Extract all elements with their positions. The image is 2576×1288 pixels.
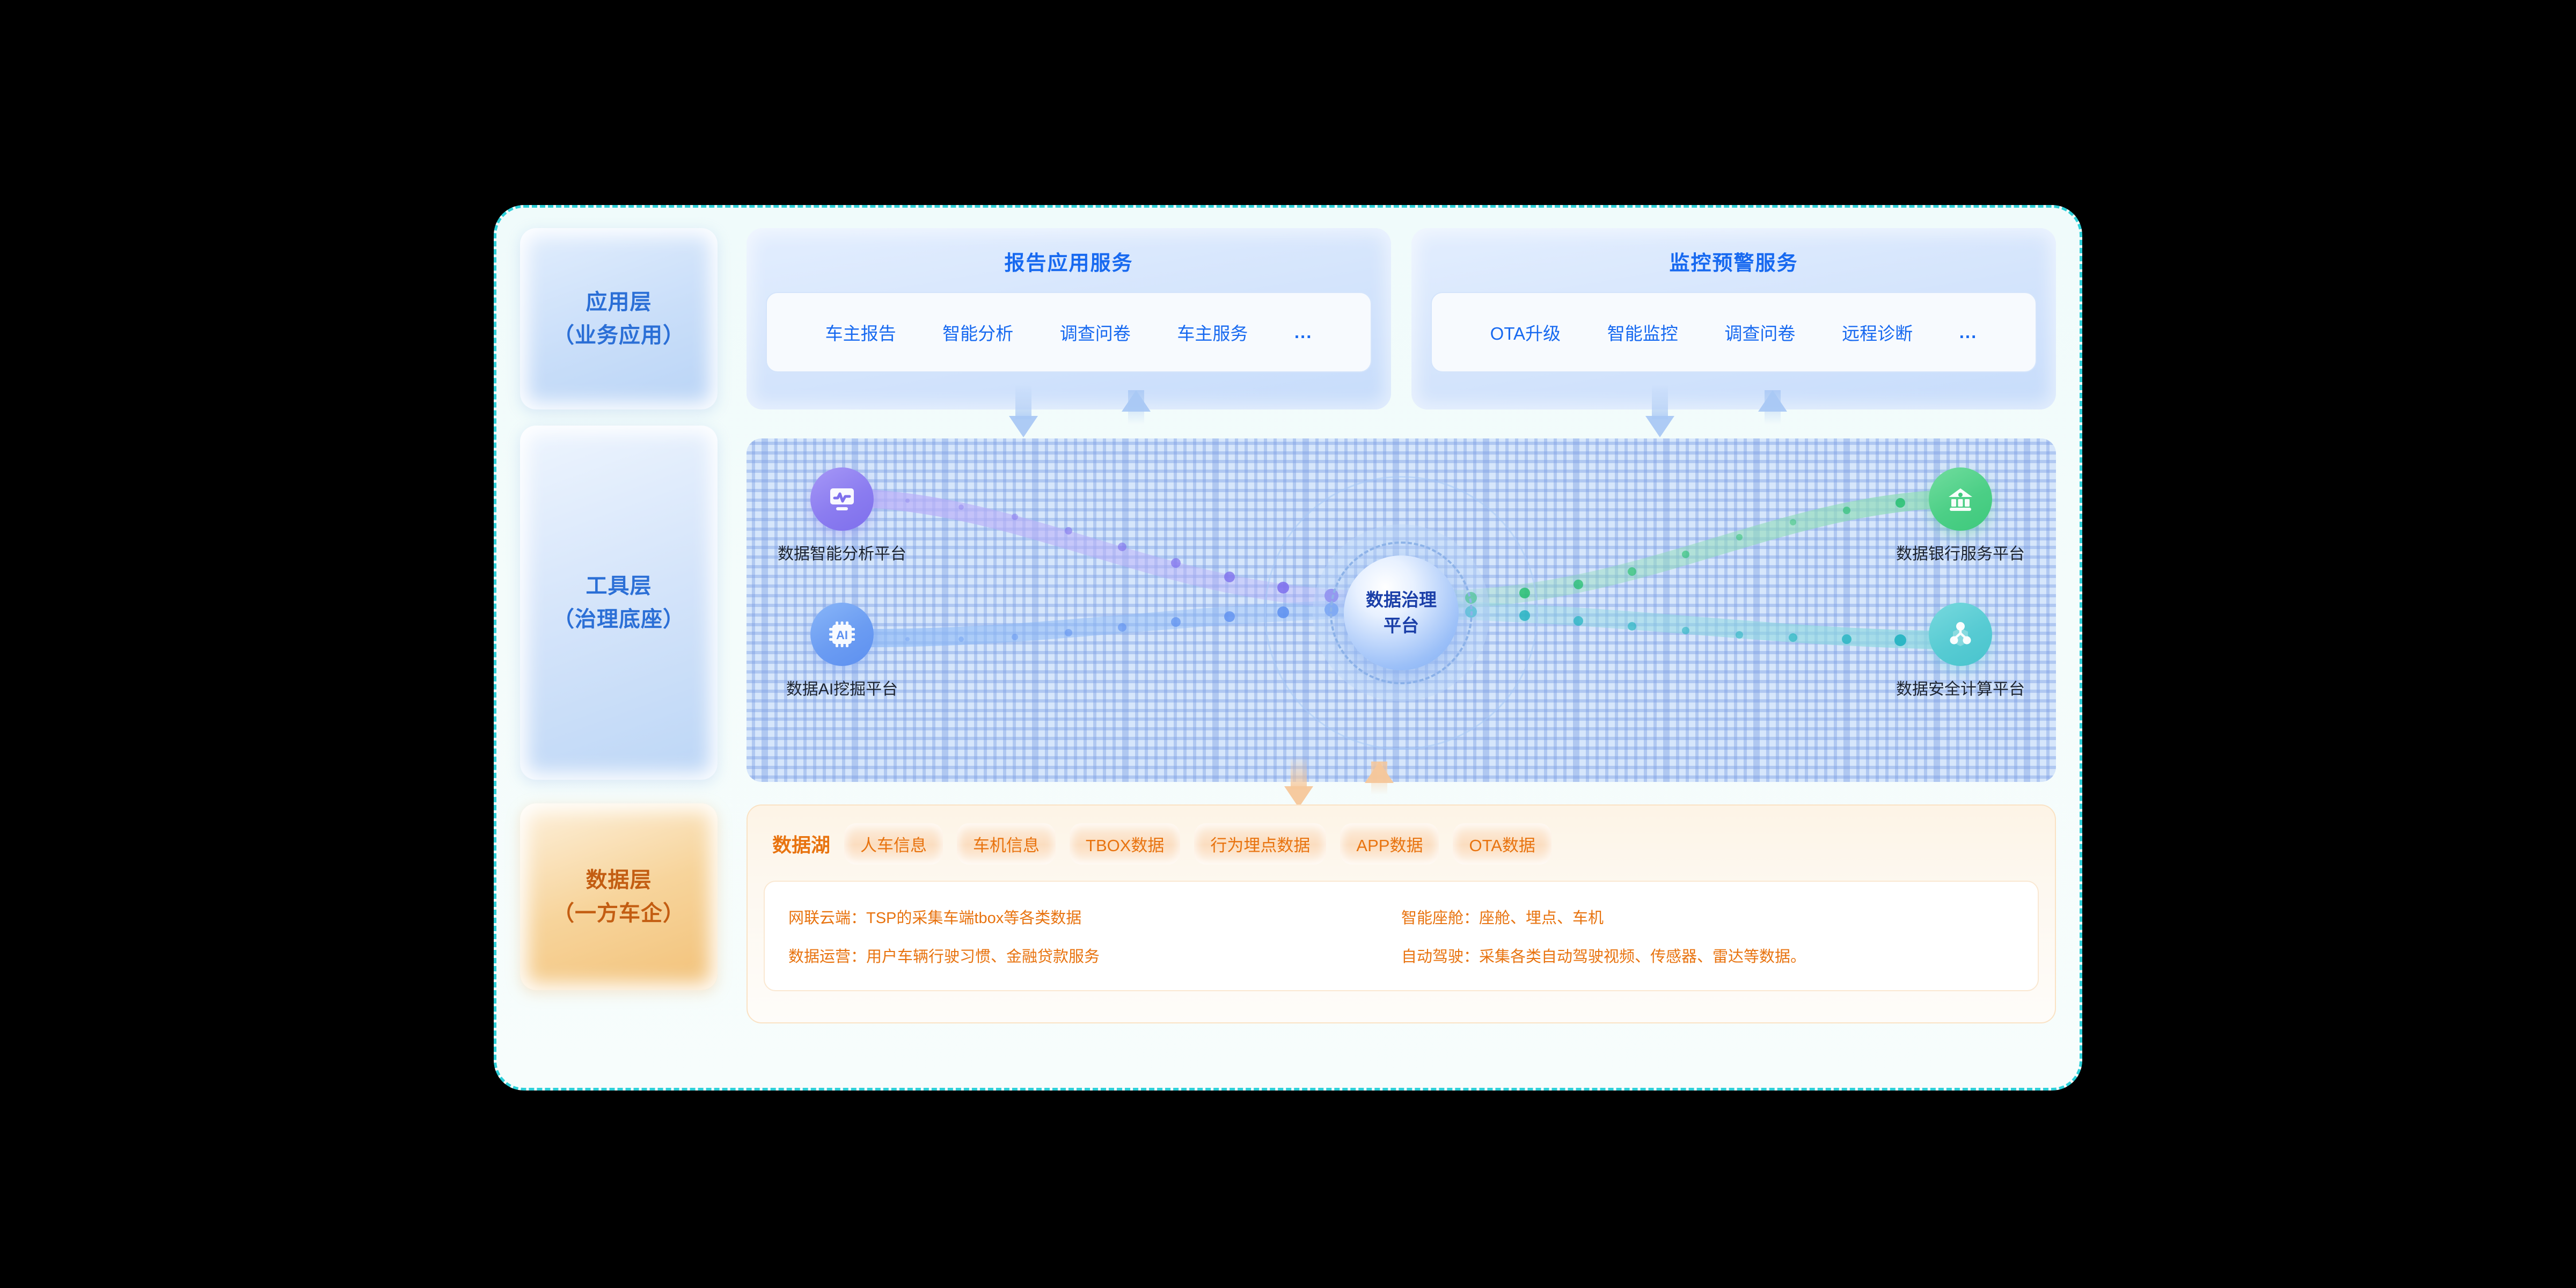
service-tag-more[interactable]: ... — [1294, 322, 1313, 342]
layer-data-line2: （一方车企） — [553, 897, 685, 930]
data-source-detail-box: 网联云端：TSP的采集车端tbox等各类数据 智能座舱：座舱、埋点、车机 数据运… — [764, 881, 2039, 991]
layer-tool-line2: （治理底座） — [553, 603, 685, 636]
service-tag-more[interactable]: ... — [1959, 322, 1978, 342]
service-card-report[interactable]: 报告应用服务 车主报告 智能分析 调查问卷 车主服务 ... — [747, 228, 1391, 409]
svg-text:AI: AI — [836, 628, 848, 642]
up-arrow-orange — [1365, 762, 1394, 783]
up-arrow-blue-left — [1122, 390, 1151, 412]
down-arrow-blue-right — [1645, 416, 1674, 437]
connector-stem-app-tool-down-right — [1652, 385, 1668, 419]
governance-hub[interactable]: 数据治理 平台 — [1313, 524, 1490, 701]
platform-label-analysis: 数据智能分析平台 — [762, 540, 923, 564]
data-source-line: 网联云端：TSP的采集车端tbox等各类数据 — [788, 905, 1401, 928]
data-lake-tag[interactable]: 人车信息 — [844, 823, 943, 865]
diagram-canvas: 应用层 （业务应用） 工具层 （治理底座） 数据层 （一方车企） 报告应用服务 … — [0, 0, 2576, 1288]
service-card-report-title: 报告应用服务 — [766, 246, 1372, 276]
data-layer-card: 数据湖 人车信息 车机信息 TBOX数据 行为埋点数据 APP数据 OTA数据 … — [747, 804, 2056, 1023]
service-card-report-tagbar: 车主报告 智能分析 调查问卷 车主服务 ... — [766, 292, 1372, 372]
connector-stem-app-tool-down-left — [1015, 385, 1031, 419]
data-lake-tag[interactable]: 车机信息 — [957, 823, 1056, 865]
data-lake-row: 数据湖 人车信息 车机信息 TBOX数据 行为埋点数据 APP数据 OTA数据 — [764, 821, 2039, 867]
hub-core: 数据治理 平台 — [1344, 555, 1459, 670]
platform-node-ai[interactable]: AI 数据AI挖掘平台 — [762, 603, 923, 699]
hub-title-line2: 平台 — [1384, 613, 1419, 639]
data-lake-tag[interactable]: APP数据 — [1340, 823, 1439, 865]
service-card-monitor-title: 监控预警服务 — [1431, 246, 2037, 276]
layer-application-line1: 应用层 — [586, 286, 652, 319]
shield-network-icon — [1929, 603, 1992, 666]
service-tag[interactable]: 调查问卷 — [1060, 319, 1131, 345]
architecture-shell: 应用层 （业务应用） 工具层 （治理底座） 数据层 （一方车企） 报告应用服务 … — [494, 205, 2082, 1091]
connector-stem-tool-data-down — [1291, 756, 1307, 789]
data-lake-tag[interactable]: OTA数据 — [1453, 823, 1551, 865]
platform-label-bank: 数据银行服务平台 — [1880, 540, 2041, 564]
ai-chip-icon: AI — [810, 603, 874, 666]
layer-tool-line1: 工具层 — [586, 569, 652, 603]
data-source-line: 智能座舱：座舱、埋点、车机 — [1401, 905, 2014, 928]
tool-panel-inner: 数据治理 平台 数据智能分析平台 — [747, 438, 2056, 782]
data-lake-title: 数据湖 — [772, 830, 830, 858]
layer-chip-tool[interactable]: 工具层 （治理底座） — [520, 426, 718, 780]
up-arrow-blue-right — [1758, 390, 1787, 412]
data-lake-tag[interactable]: 行为埋点数据 — [1194, 823, 1326, 865]
data-lake-tag[interactable]: TBOX数据 — [1070, 823, 1180, 865]
service-tag[interactable]: 调查问卷 — [1724, 319, 1795, 345]
bank-icon — [1929, 467, 1992, 531]
application-layer-row: 报告应用服务 车主报告 智能分析 调查问卷 车主服务 ... 监控预警服务 OT… — [747, 228, 2056, 409]
tool-layer-panel: 数据治理 平台 数据智能分析平台 — [747, 438, 2056, 782]
layer-chip-data[interactable]: 数据层 （一方车企） — [520, 803, 718, 990]
data-source-line: 数据运营：用户车辆行驶习惯、金融贷款服务 — [788, 944, 1401, 967]
service-tag[interactable]: 智能分析 — [942, 319, 1013, 345]
platform-node-security[interactable]: 数据安全计算平台 — [1880, 603, 2041, 699]
layer-rail: 应用层 （业务应用） 工具层 （治理底座） 数据层 （一方车企） — [520, 228, 718, 1071]
platform-label-security: 数据安全计算平台 — [1880, 676, 2041, 699]
service-tag[interactable]: 车主服务 — [1177, 319, 1248, 345]
service-card-monitor-tagbar: OTA升级 智能监控 调查问卷 远程诊断 ... — [1431, 292, 2037, 372]
data-source-line: 自动驾驶：采集各类自动驾驶视频、传感器、雷达等数据。 — [1401, 944, 2014, 967]
layer-data-line1: 数据层 — [586, 863, 652, 897]
monitor-pulse-icon — [810, 467, 874, 531]
platform-node-analysis[interactable]: 数据智能分析平台 — [762, 467, 923, 564]
platform-label-ai: 数据AI挖掘平台 — [762, 676, 923, 699]
layer-chip-application[interactable]: 应用层 （业务应用） — [520, 228, 718, 409]
service-tag[interactable]: OTA升级 — [1490, 319, 1561, 345]
down-arrow-blue-left — [1009, 416, 1038, 437]
service-tag[interactable]: 车主报告 — [825, 319, 896, 345]
hub-title-line1: 数据治理 — [1366, 587, 1437, 613]
service-tag[interactable]: 智能监控 — [1607, 319, 1678, 345]
layer-application-line2: （业务应用） — [553, 319, 685, 352]
platform-node-bank[interactable]: 数据银行服务平台 — [1880, 467, 2041, 564]
service-card-monitor[interactable]: 监控预警服务 OTA升级 智能监控 调查问卷 远程诊断 ... — [1411, 228, 2056, 409]
service-tag[interactable]: 远程诊断 — [1842, 319, 1913, 345]
